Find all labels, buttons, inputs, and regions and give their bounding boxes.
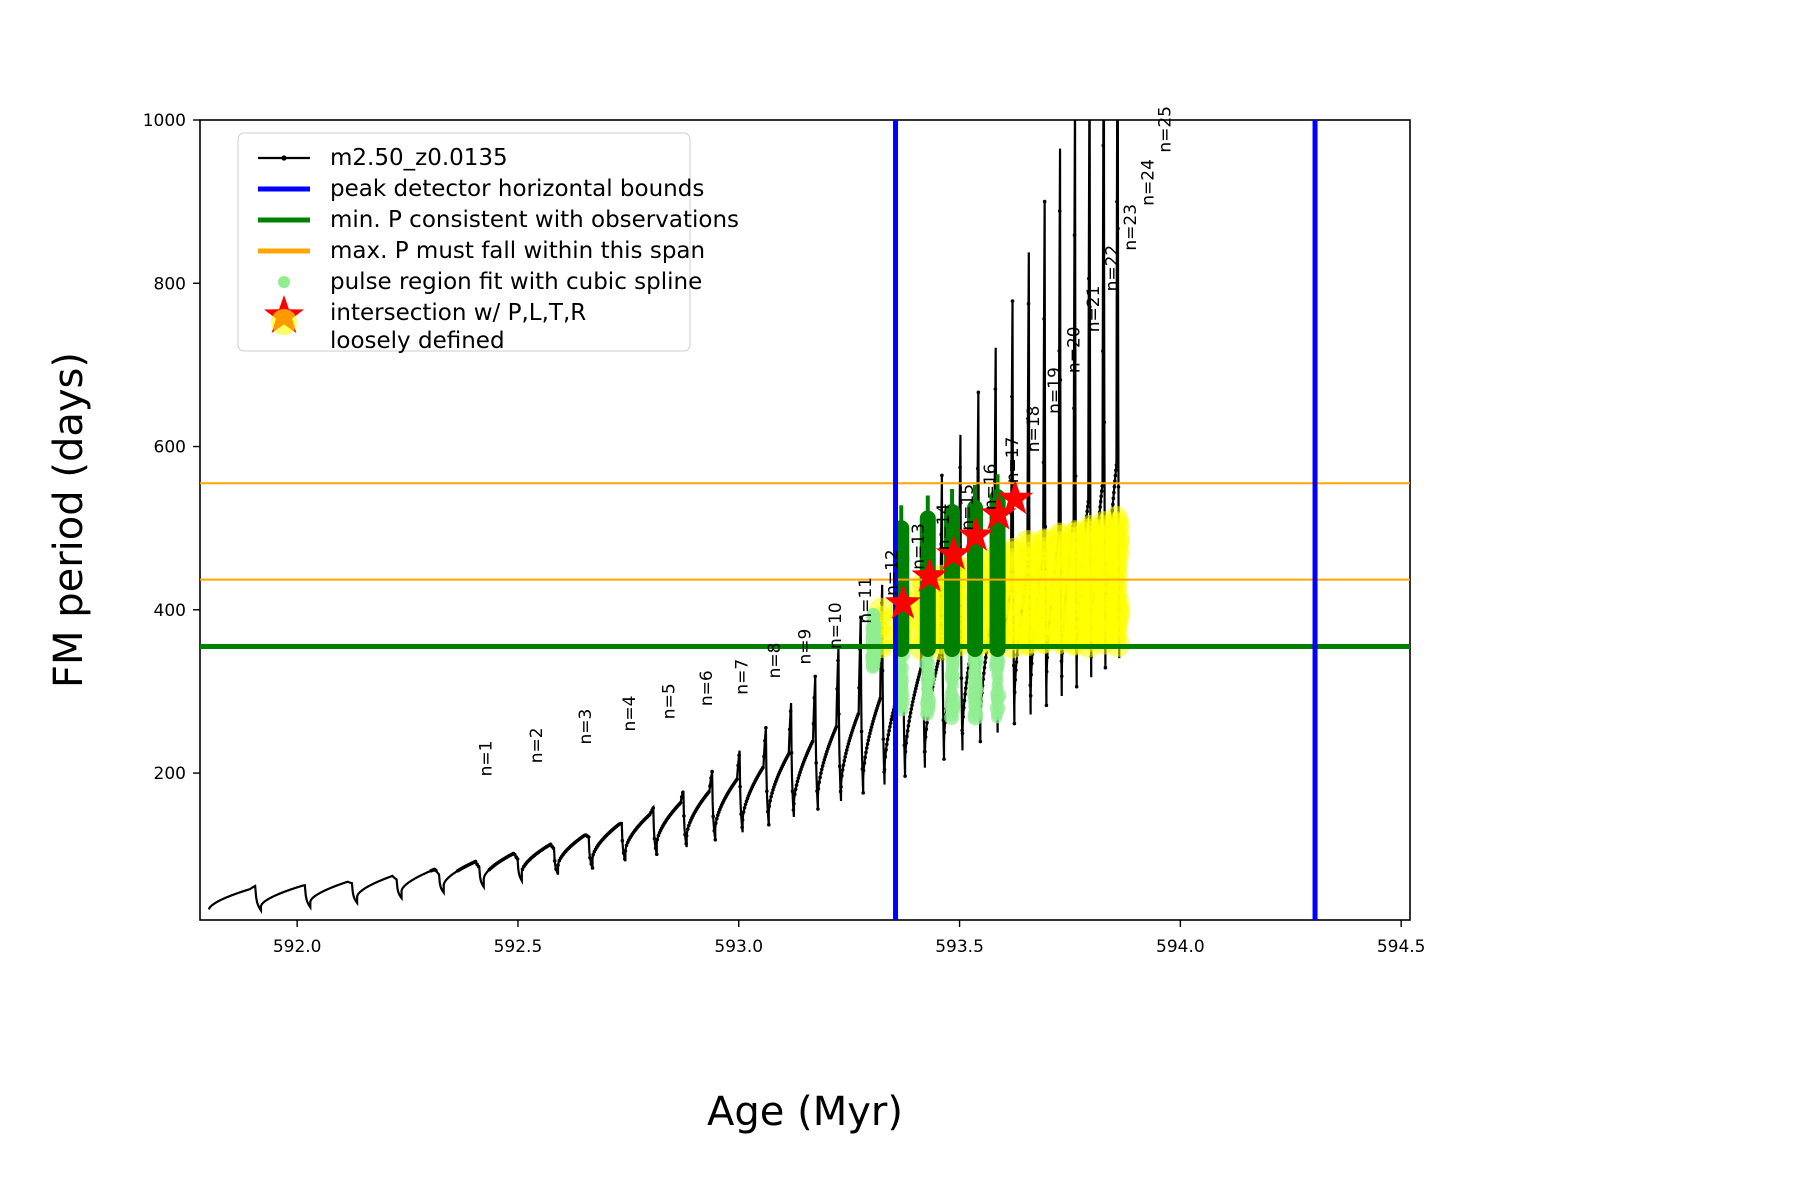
track-marker (1045, 656, 1049, 660)
track-marker (795, 783, 799, 787)
track-marker (878, 697, 882, 701)
intersection-point (1105, 506, 1128, 529)
track-marker (838, 765, 842, 769)
track-marker (912, 697, 916, 701)
track-marker (623, 857, 627, 861)
track-marker (1029, 694, 1033, 698)
track-marker (741, 818, 745, 822)
legend-marker-dot (278, 276, 290, 288)
track-marker (817, 780, 821, 784)
track-marker (887, 729, 891, 733)
track-marker (624, 849, 628, 853)
track-marker (793, 793, 797, 797)
track-marker (1045, 670, 1049, 674)
track-marker (856, 712, 860, 716)
track-marker (656, 838, 660, 842)
track-marker (890, 718, 894, 722)
track-marker (961, 715, 965, 719)
track-marker (913, 690, 917, 694)
track-marker (813, 696, 817, 700)
track-marker (655, 852, 659, 856)
track-marker (994, 387, 998, 391)
track-marker (1013, 722, 1017, 726)
track-marker (1115, 463, 1119, 467)
track-marker (910, 704, 914, 708)
track-marker (1043, 525, 1047, 529)
track-marker (865, 746, 869, 750)
track-marker (556, 863, 560, 867)
track-marker (712, 829, 716, 833)
track-marker (763, 739, 767, 743)
pulse-number-label: n=20 (1065, 326, 1085, 373)
track-marker (553, 859, 557, 863)
x-tick-label: 592.0 (273, 937, 322, 957)
track-marker (982, 671, 986, 675)
legend-entry-label: max. P must fall within this span (330, 238, 705, 264)
track-marker (1114, 474, 1118, 478)
track-marker (792, 808, 796, 812)
track-marker (863, 761, 867, 765)
track-marker (766, 810, 770, 814)
track-marker (516, 857, 520, 861)
track-marker (925, 727, 929, 731)
legend-entry-label: peak detector horizontal bounds (330, 176, 704, 202)
x-tick-label: 594.5 (1377, 937, 1426, 957)
track-marker (882, 737, 886, 741)
track-marker (845, 748, 849, 752)
track-marker (906, 729, 910, 733)
track-marker (1116, 227, 1120, 231)
track-marker (587, 835, 591, 839)
track-marker (1112, 491, 1116, 495)
track-marker (1027, 302, 1031, 306)
track-marker (881, 669, 885, 673)
track-marker (822, 761, 826, 765)
pulse-number-label: n=15 (958, 484, 978, 531)
track-marker (589, 862, 593, 866)
track-marker (707, 790, 711, 794)
y-tick-label: 200 (154, 764, 186, 784)
track-marker (792, 802, 796, 806)
pulse-number-label: n=25 (1156, 106, 1176, 153)
track-marker (889, 721, 893, 725)
track-marker (1074, 474, 1078, 478)
track-marker (654, 846, 658, 850)
track-marker (715, 817, 719, 821)
track-marker (737, 753, 741, 757)
track-marker (1114, 468, 1118, 472)
track-marker (812, 722, 816, 726)
pulse-number-label: n=10 (826, 602, 846, 649)
track-marker (679, 801, 683, 805)
track-marker (744, 803, 748, 807)
track-marker (770, 791, 774, 795)
track-marker (1104, 666, 1108, 670)
track-marker (1103, 420, 1107, 424)
legend-entry-label: intersection w/ P,L,T,R (330, 300, 586, 326)
legend-entry-label: min. P consistent with observations (330, 207, 739, 233)
track-marker (1014, 668, 1018, 672)
track-marker (1072, 406, 1076, 410)
track-marker (924, 735, 928, 739)
track-marker (907, 724, 911, 728)
track-marker (1117, 485, 1121, 489)
track-marker (884, 748, 888, 752)
track-marker (1086, 500, 1090, 504)
track-marker (1102, 144, 1106, 148)
track-marker (765, 789, 769, 793)
track-marker (1073, 233, 1077, 237)
pulse-number-label: n=1 (476, 740, 496, 776)
track-marker (740, 826, 744, 830)
track-marker (1029, 683, 1033, 687)
track-marker (935, 665, 939, 669)
legend-entry-label: m2.50_z0.0135 (330, 145, 508, 171)
track-marker (684, 842, 688, 846)
pulse-number-label: n=8 (765, 643, 785, 679)
track-marker (888, 725, 892, 729)
track-marker (767, 805, 771, 809)
track-marker (1100, 489, 1104, 493)
track-marker (912, 693, 916, 697)
track-marker (963, 692, 967, 696)
track-marker (811, 740, 815, 744)
y-tick-label: 1000 (143, 111, 186, 131)
fm-period-vs-age-chart: n=1n=2n=3n=4n=5n=6n=7n=8n=9n=10n=11n=12n… (0, 0, 1800, 1200)
track-marker (846, 745, 850, 749)
pulse-number-label: n=7 (733, 659, 753, 695)
track-marker (1029, 673, 1033, 677)
track-marker (813, 675, 817, 679)
track-marker (861, 791, 865, 795)
track-marker (738, 785, 742, 789)
track-marker (841, 768, 845, 772)
track-marker (977, 391, 981, 395)
x-tick-label: 592.5 (494, 937, 543, 957)
track-marker (1099, 500, 1103, 504)
track-marker (764, 726, 768, 730)
track-marker (862, 769, 866, 773)
track-marker (936, 662, 940, 666)
pulse-number-label: n=6 (697, 670, 717, 706)
track-marker (943, 731, 947, 735)
track-marker (863, 755, 867, 759)
track-marker (591, 866, 595, 870)
track-marker (1112, 497, 1116, 501)
track-marker (1101, 349, 1105, 353)
x-tick-label: 593.5 (935, 937, 984, 957)
track-marker (942, 757, 946, 761)
track-marker (434, 869, 438, 873)
track-marker (743, 806, 747, 810)
track-marker (761, 766, 765, 770)
pulse-number-label: n=21 (1084, 286, 1104, 333)
legend-marker-dot (281, 155, 286, 160)
track-marker (886, 738, 890, 742)
track-marker (1098, 505, 1102, 509)
track-marker (788, 728, 792, 732)
track-marker (923, 750, 927, 754)
track-marker (767, 823, 771, 827)
track-marker (904, 741, 908, 745)
track-marker (940, 474, 944, 478)
track-marker (477, 865, 481, 869)
track-marker (816, 807, 820, 811)
x-tick-label: 593.0 (714, 937, 763, 957)
track-marker (979, 740, 983, 744)
pulse-number-label: n=19 (1045, 367, 1065, 414)
track-marker (682, 814, 686, 818)
pulse-number-label: n=9 (796, 629, 816, 665)
track-marker (554, 867, 558, 871)
track-marker (713, 838, 717, 842)
track-marker (685, 834, 689, 838)
track-marker (1060, 674, 1064, 678)
track-marker (1043, 200, 1047, 204)
track-marker (837, 712, 841, 716)
track-marker (797, 776, 801, 780)
track-marker (962, 706, 966, 710)
track-marker (983, 661, 987, 665)
track-marker (1111, 503, 1115, 507)
track-marker (840, 774, 844, 778)
track-marker (818, 776, 822, 780)
y-axis-title: FM period (days) (46, 352, 92, 688)
track-marker (1058, 209, 1062, 213)
track-marker (836, 659, 840, 663)
track-marker (857, 686, 861, 690)
track-marker (907, 719, 911, 723)
track-marker (1087, 277, 1091, 281)
track-marker (1010, 395, 1014, 399)
track-marker (964, 686, 968, 690)
track-marker (794, 787, 798, 791)
track-marker (887, 733, 891, 737)
track-marker (1085, 510, 1089, 514)
track-marker (835, 725, 839, 729)
track-marker (1060, 660, 1064, 664)
track-marker (1011, 299, 1015, 303)
legend-entry-label-line2: loosely defined (330, 328, 505, 354)
track-marker (714, 821, 718, 825)
track-marker (983, 666, 987, 670)
track-marker (621, 839, 625, 843)
track-marker (819, 771, 823, 775)
track-marker (768, 799, 772, 803)
track-marker (976, 467, 980, 471)
track-marker (789, 709, 793, 713)
track-marker (742, 810, 746, 814)
legend-marker-yellow-blob (271, 309, 297, 335)
track-marker (711, 815, 715, 819)
y-tick-label: 600 (154, 438, 186, 458)
track-marker (904, 750, 908, 754)
legend-entry-label: pulse region fit with cubic spline (330, 269, 702, 295)
track-marker (1115, 200, 1119, 204)
pulse-number-label: n=12 (883, 549, 903, 596)
pulse-number-label: n=5 (660, 683, 680, 719)
track-marker (961, 732, 965, 736)
y-tick-label: 400 (154, 601, 186, 621)
track-marker (686, 827, 690, 831)
pulse-number-label: n=22 (1103, 245, 1123, 292)
track-marker (1013, 678, 1017, 682)
track-marker (1075, 685, 1079, 689)
pulse-number-label: n=2 (527, 727, 547, 763)
track-marker (710, 770, 714, 774)
track-marker (821, 764, 825, 768)
track-marker (680, 795, 684, 799)
track-marker (619, 822, 623, 826)
track-marker (867, 735, 871, 739)
track-marker (843, 759, 847, 763)
track-marker (1015, 660, 1019, 664)
track-marker (884, 755, 888, 759)
track-marker (796, 780, 800, 784)
track-marker (708, 784, 712, 788)
track-marker (908, 715, 912, 719)
track-marker (651, 806, 655, 810)
track-marker (735, 777, 739, 781)
track-marker (984, 656, 988, 660)
track-marker (1042, 461, 1046, 465)
track-marker (552, 846, 556, 850)
legend: m2.50_z0.0135peak detector horizontal bo… (238, 133, 739, 354)
track-marker (960, 676, 964, 680)
pulse-number-label: n=14 (934, 504, 954, 551)
pulse-number-label: n=4 (620, 696, 640, 732)
track-marker (869, 728, 873, 732)
track-marker (1086, 505, 1090, 509)
track-marker (1099, 494, 1103, 498)
track-marker (835, 687, 839, 691)
track-marker (591, 853, 595, 857)
y-tick-label: 800 (154, 274, 186, 294)
track-marker (814, 761, 818, 765)
pulse-number-label: n=23 (1121, 204, 1141, 251)
track-marker (817, 787, 821, 791)
track-marker (1045, 704, 1049, 708)
track-marker (914, 687, 918, 691)
track-marker (843, 755, 847, 759)
x-tick-label: 594.0 (1156, 937, 1205, 957)
pulse-number-label: n=24 (1138, 159, 1158, 206)
track-marker (844, 752, 848, 756)
track-marker (791, 790, 795, 794)
pulse-number-label: n=18 (1024, 406, 1044, 453)
track-marker (1042, 317, 1046, 321)
track-marker (866, 742, 870, 746)
pulse-number-label: n=16 (981, 464, 1001, 511)
track-marker (820, 768, 824, 772)
track-marker (867, 738, 871, 742)
track-marker (790, 751, 794, 755)
track-marker (1012, 664, 1016, 668)
track-marker (963, 699, 967, 703)
track-marker (769, 795, 773, 799)
track-marker (903, 774, 907, 778)
pulse-number-label: n=11 (856, 577, 876, 624)
track-marker (588, 856, 592, 860)
track-marker (762, 755, 766, 759)
x-axis-title: Age (Myr) (707, 1089, 903, 1135)
track-marker (885, 742, 889, 746)
track-marker (1113, 485, 1117, 489)
track-marker (958, 466, 962, 470)
track-marker (860, 730, 864, 734)
track-marker (842, 763, 846, 767)
track-marker (709, 776, 713, 780)
track-marker (910, 707, 914, 711)
track-marker (909, 711, 913, 715)
figure-canvas: n=1n=2n=3n=4n=5n=6n=7n=8n=9n=10n=11n=12n… (0, 0, 1800, 1200)
track-marker (883, 768, 887, 772)
track-marker (839, 785, 843, 789)
track-marker (1057, 349, 1061, 353)
track-marker (864, 751, 868, 755)
pulse-number-label: n=13 (909, 523, 929, 570)
track-marker (905, 735, 909, 739)
track-marker (868, 732, 872, 736)
track-marker (681, 791, 685, 795)
track-marker (1030, 662, 1034, 666)
track-marker (1100, 484, 1104, 488)
track-marker (925, 721, 929, 725)
track-marker (839, 790, 843, 794)
track-marker (1013, 691, 1017, 695)
pulse-number-label: n=17 (1003, 437, 1023, 484)
pulse-number-label: n=3 (576, 709, 596, 745)
track-marker (911, 700, 915, 704)
track-marker (736, 764, 740, 768)
